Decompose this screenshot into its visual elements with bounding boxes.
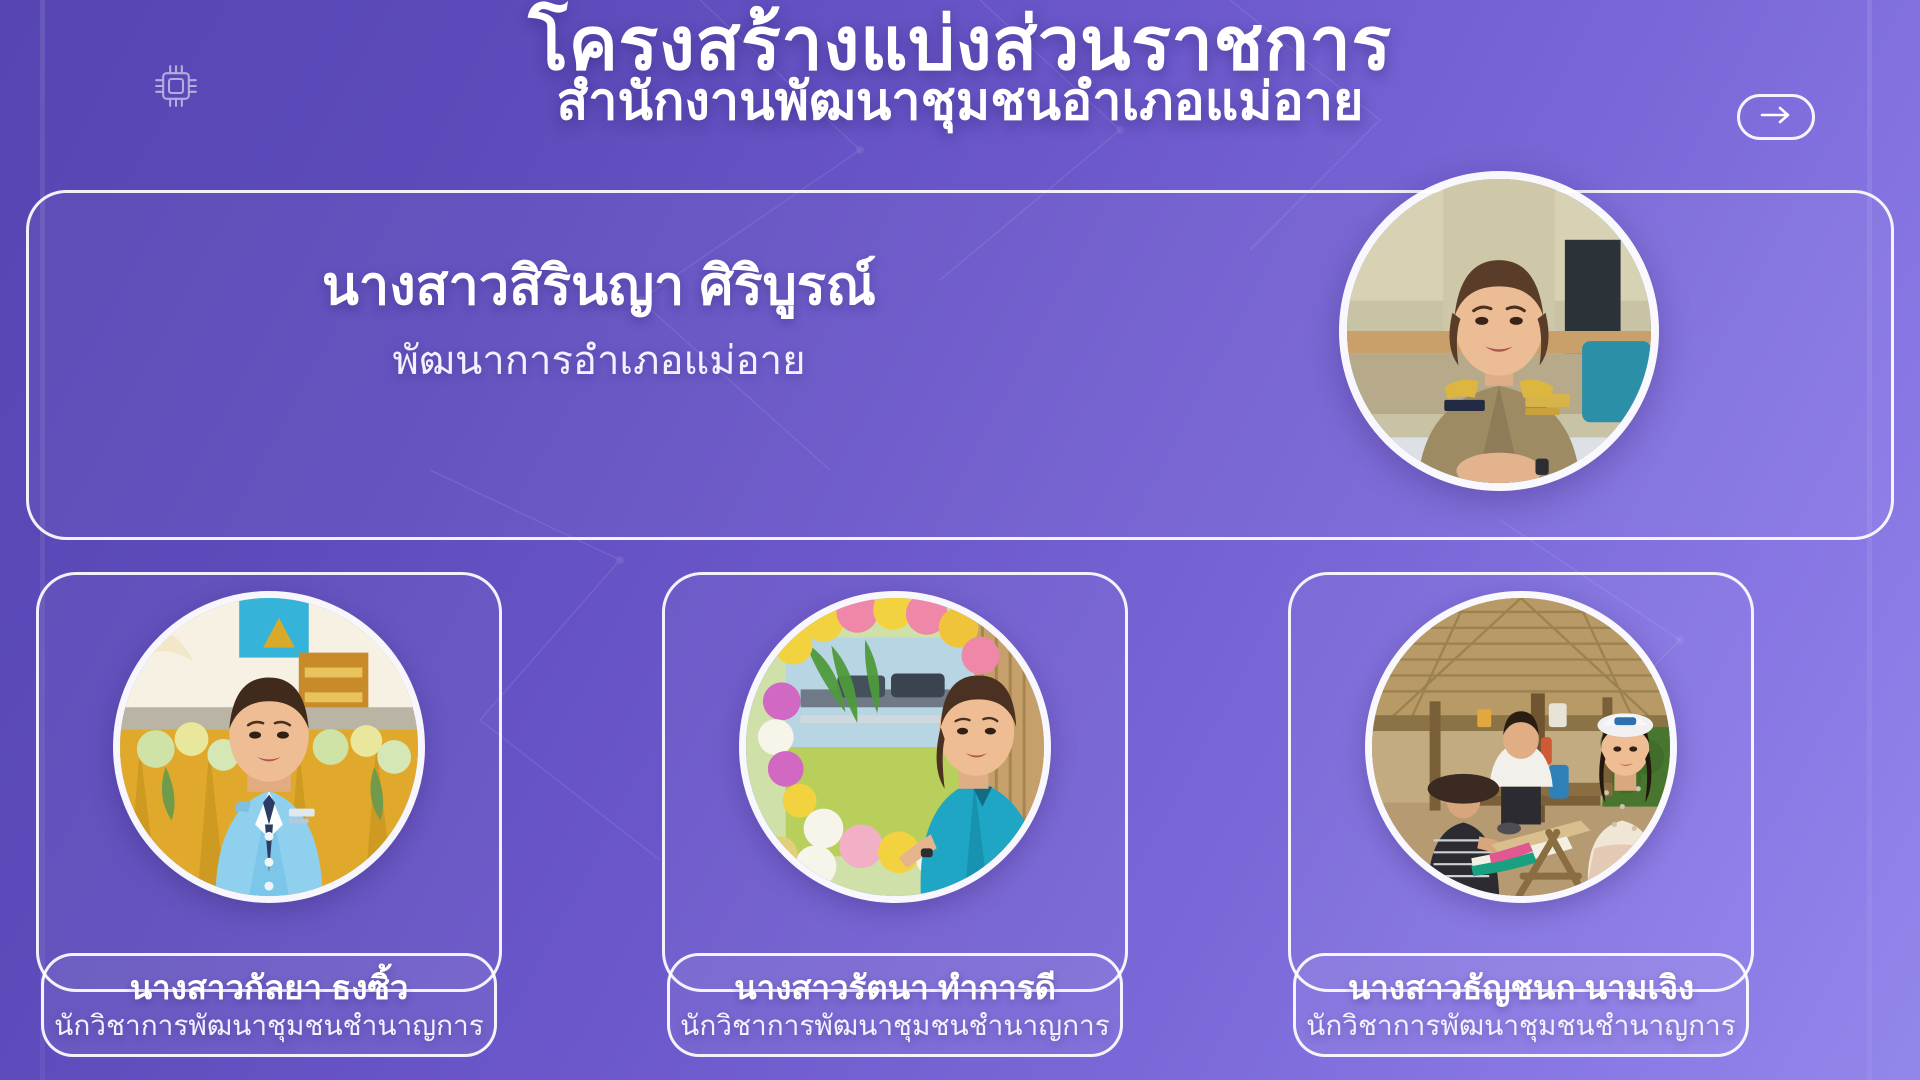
staff-card[interactable]: นางสาวธัญชนก นามเจิง นักวิชาการพัฒนาชุมช… — [1288, 572, 1754, 992]
page-title: โครงสร้างแบ่งส่วนราชการ — [0, 6, 1920, 81]
director-avatar — [1339, 171, 1659, 491]
staff-name: นางสาวรัตนา ทำการดี — [734, 967, 1056, 1008]
arrow-right-icon — [1756, 105, 1796, 130]
director-role: พัฒนาการอำเภอแม่อาย — [149, 337, 1049, 385]
staff-role: นักวิชาการพัฒนาชุมชนชำนาญการ — [680, 1008, 1110, 1043]
slide-root: โครงสร้างแบ่งส่วนราชการ สำนักงานพัฒนาชุม… — [0, 0, 1920, 1080]
header: โครงสร้างแบ่งส่วนราชการ สำนักงานพัฒนาชุม… — [0, 0, 1920, 152]
director-text: นางสาวสิรินญา ศิริบูรณ์ พัฒนาการอำเภอแม่… — [149, 255, 1049, 385]
staff-role: นักวิชาการพัฒนาชุมชนชำนาญการ — [1306, 1008, 1736, 1043]
staff-name: นางสาวธัญชนก นามเจิง — [1348, 967, 1694, 1008]
staff-avatar — [739, 591, 1051, 903]
staff-name-plate: นางสาวกัลยา ธงซิ้ว นักวิชาการพัฒนาชุมชนช… — [41, 953, 497, 1057]
staff-name-plate: นางสาวธัญชนก นามเจิง นักวิชาการพัฒนาชุมช… — [1293, 953, 1749, 1057]
staff-avatar — [1365, 591, 1677, 903]
staff-row: นางสาวกัลยา ธงซิ้ว นักวิชาการพัฒนาชุมชนช… — [0, 572, 1920, 1072]
director-name: นางสาวสิรินญา ศิริบูรณ์ — [149, 255, 1049, 317]
staff-role: นักวิชาการพัฒนาชุมชนชำนาญการ — [54, 1008, 484, 1043]
title-block: โครงสร้างแบ่งส่วนราชการ สำนักงานพัฒนาชุม… — [0, 6, 1920, 130]
staff-avatar — [113, 591, 425, 903]
staff-card[interactable]: นางสาวรัตนา ทำการดี นักวิชาการพัฒนาชุมชน… — [662, 572, 1128, 992]
next-slide-button[interactable] — [1737, 94, 1815, 140]
page-subtitle: สำนักงานพัฒนาชุมชนอำเภอแม่อาย — [0, 75, 1920, 130]
staff-card[interactable]: นางสาวกัลยา ธงซิ้ว นักวิชาการพัฒนาชุมชนช… — [36, 572, 502, 992]
director-card[interactable]: นางสาวสิรินญา ศิริบูรณ์ พัฒนาการอำเภอแม่… — [26, 190, 1894, 540]
staff-name-plate: นางสาวรัตนา ทำการดี นักวิชาการพัฒนาชุมชน… — [667, 953, 1123, 1057]
staff-name: นางสาวกัลยา ธงซิ้ว — [130, 967, 409, 1008]
